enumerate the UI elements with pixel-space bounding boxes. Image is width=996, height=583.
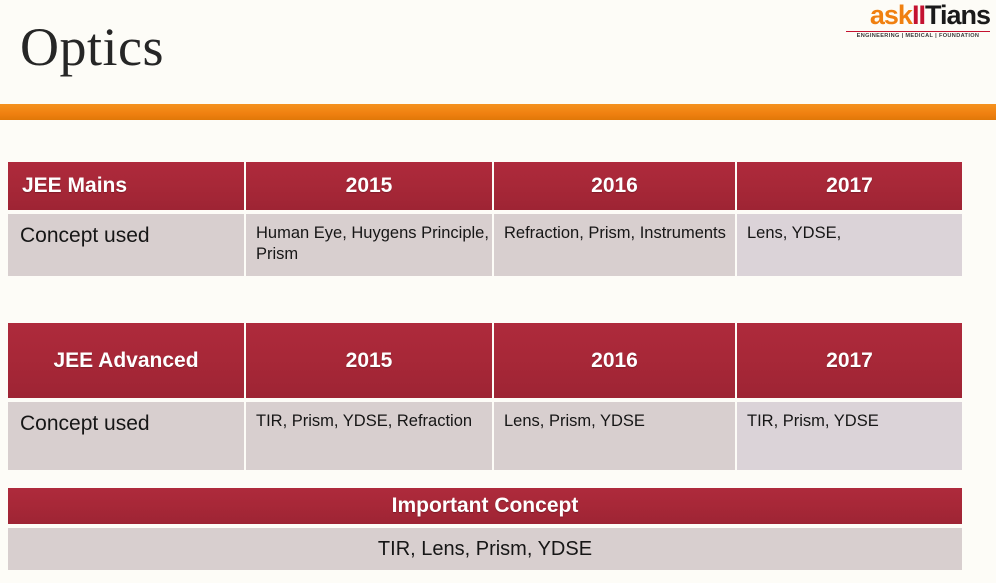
table-row: Concept used TIR, Prism, YDSE, Refractio… <box>8 402 962 470</box>
cell-concept-2015: Human Eye, Huygens Principle, Prism <box>246 214 494 276</box>
header-cell-year-2016: 2016 <box>494 323 737 398</box>
brand-wordmark-tians: Tians <box>925 0 990 30</box>
cell-concept-2017: Lens, YDSE, <box>737 214 962 276</box>
cell-concept-2016: Refraction, Prism, Instruments <box>494 214 737 276</box>
header-cell-year-2015: 2015 <box>246 162 494 210</box>
header-cell-exam: JEE Advanced <box>8 323 246 398</box>
row-label-concept-used: Concept used <box>8 214 246 276</box>
page-title: Optics <box>20 20 164 74</box>
table-jee-advanced: JEE Advanced 2015 2016 2017 Concept used… <box>8 323 962 470</box>
important-concept-block: Important Concept TIR, Lens, Prism, YDSE <box>8 488 962 570</box>
important-concept-value: TIR, Lens, Prism, YDSE <box>8 528 962 570</box>
cell-concept-2016: Lens, Prism, YDSE <box>494 402 737 470</box>
header-cell-year-2016: 2016 <box>494 162 737 210</box>
brand-wordmark: askIITians <box>846 2 990 29</box>
cell-concept-2015: TIR, Prism, YDSE, Refraction <box>246 402 494 470</box>
table-jee-mains: JEE Mains 2015 2016 2017 Concept used Hu… <box>8 162 962 276</box>
header-cell-year-2015: 2015 <box>246 323 494 398</box>
header-cell-exam: JEE Mains <box>8 162 246 210</box>
header-cell-year-2017: 2017 <box>737 162 962 210</box>
important-concept-header: Important Concept <box>8 488 962 524</box>
brand-tagline: ENGINEERING | MEDICAL | FOUNDATION <box>846 31 990 40</box>
cell-concept-2017: TIR, Prism, YDSE <box>737 402 962 470</box>
brand-wordmark-ask: ask <box>870 0 912 30</box>
table-header-row: JEE Advanced 2015 2016 2017 <box>8 323 962 398</box>
brand-wordmark-ii: II <box>912 0 925 30</box>
orange-divider-bar <box>0 104 996 120</box>
table-header-row: JEE Mains 2015 2016 2017 <box>8 162 962 210</box>
table-row: Concept used Human Eye, Huygens Principl… <box>8 214 962 276</box>
brand-logo: askIITians ENGINEERING | MEDICAL | FOUND… <box>846 2 990 40</box>
header-cell-year-2017: 2017 <box>737 323 962 398</box>
row-label-concept-used: Concept used <box>8 402 246 470</box>
